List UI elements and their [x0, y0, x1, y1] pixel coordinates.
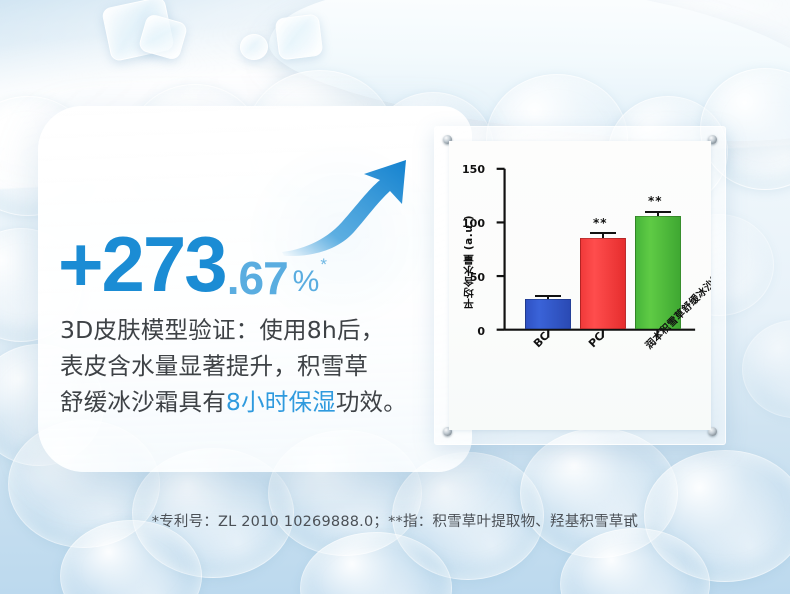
headline-integer: +273: [58, 228, 226, 301]
ice-cube-3: [275, 13, 324, 60]
headline-percent-sign: %: [293, 267, 320, 297]
headline: +273 .67 % *: [58, 215, 438, 301]
bar-chart: 平均含水量 (a.u.): [449, 141, 711, 430]
body-copy-line-1: 3D皮肤模型验证：使用8h后，: [60, 312, 440, 348]
body-copy-line-2-text: 表皮含水量显著提升，积雪草: [60, 352, 368, 380]
body-copy-line-3: 舒缓冰沙霜具有8小时保湿功效。: [60, 384, 440, 420]
body-copy: 3D皮肤模型验证：使用8h后， 表皮含水量显著提升，积雪草 舒缓冰沙霜具有8小时…: [60, 312, 440, 420]
bar-bc: [525, 299, 571, 329]
body-copy-line-2: 表皮含水量显著提升，积雪草: [60, 348, 440, 384]
footnote: *专利号：ZL 2010 10269888.0；**指：积雪草叶提取物、羟基积雪…: [0, 510, 790, 531]
y-tick-50: 50: [451, 271, 485, 284]
errorbar-pc-stem: [602, 233, 604, 238]
significance-marker-product: **: [648, 194, 663, 208]
significance-marker-pc: **: [593, 216, 608, 230]
promo-banner: +273 .67 % * 3D皮肤模型验证：使用8h后， 表皮含水量显著提升，积…: [0, 0, 790, 594]
body-copy-highlight: 8小时保湿: [226, 388, 336, 416]
bar-pc: [580, 238, 626, 329]
y-tick-150: 150: [451, 163, 485, 176]
ice-cube-4: [240, 34, 268, 60]
y-tick-100: 100: [451, 217, 485, 230]
headline-decimal: .67: [227, 255, 288, 301]
y-tick-0: 0: [451, 325, 485, 338]
chart-glass-frame: 平均含水量 (a.u.): [434, 126, 726, 445]
body-copy-line-1-text: 3D皮肤模型验证：使用8h后，: [60, 316, 384, 344]
errorbar-bc-stem: [547, 295, 549, 299]
body-copy-line-3-prefix: 舒缓冰沙霜具有: [60, 388, 226, 416]
chart-panel: 平均含水量 (a.u.): [449, 141, 711, 430]
errorbar-product-stem: [657, 212, 659, 216]
headline-footnote-marker: *: [320, 255, 327, 275]
body-copy-line-3-suffix: 功效。: [336, 388, 407, 416]
